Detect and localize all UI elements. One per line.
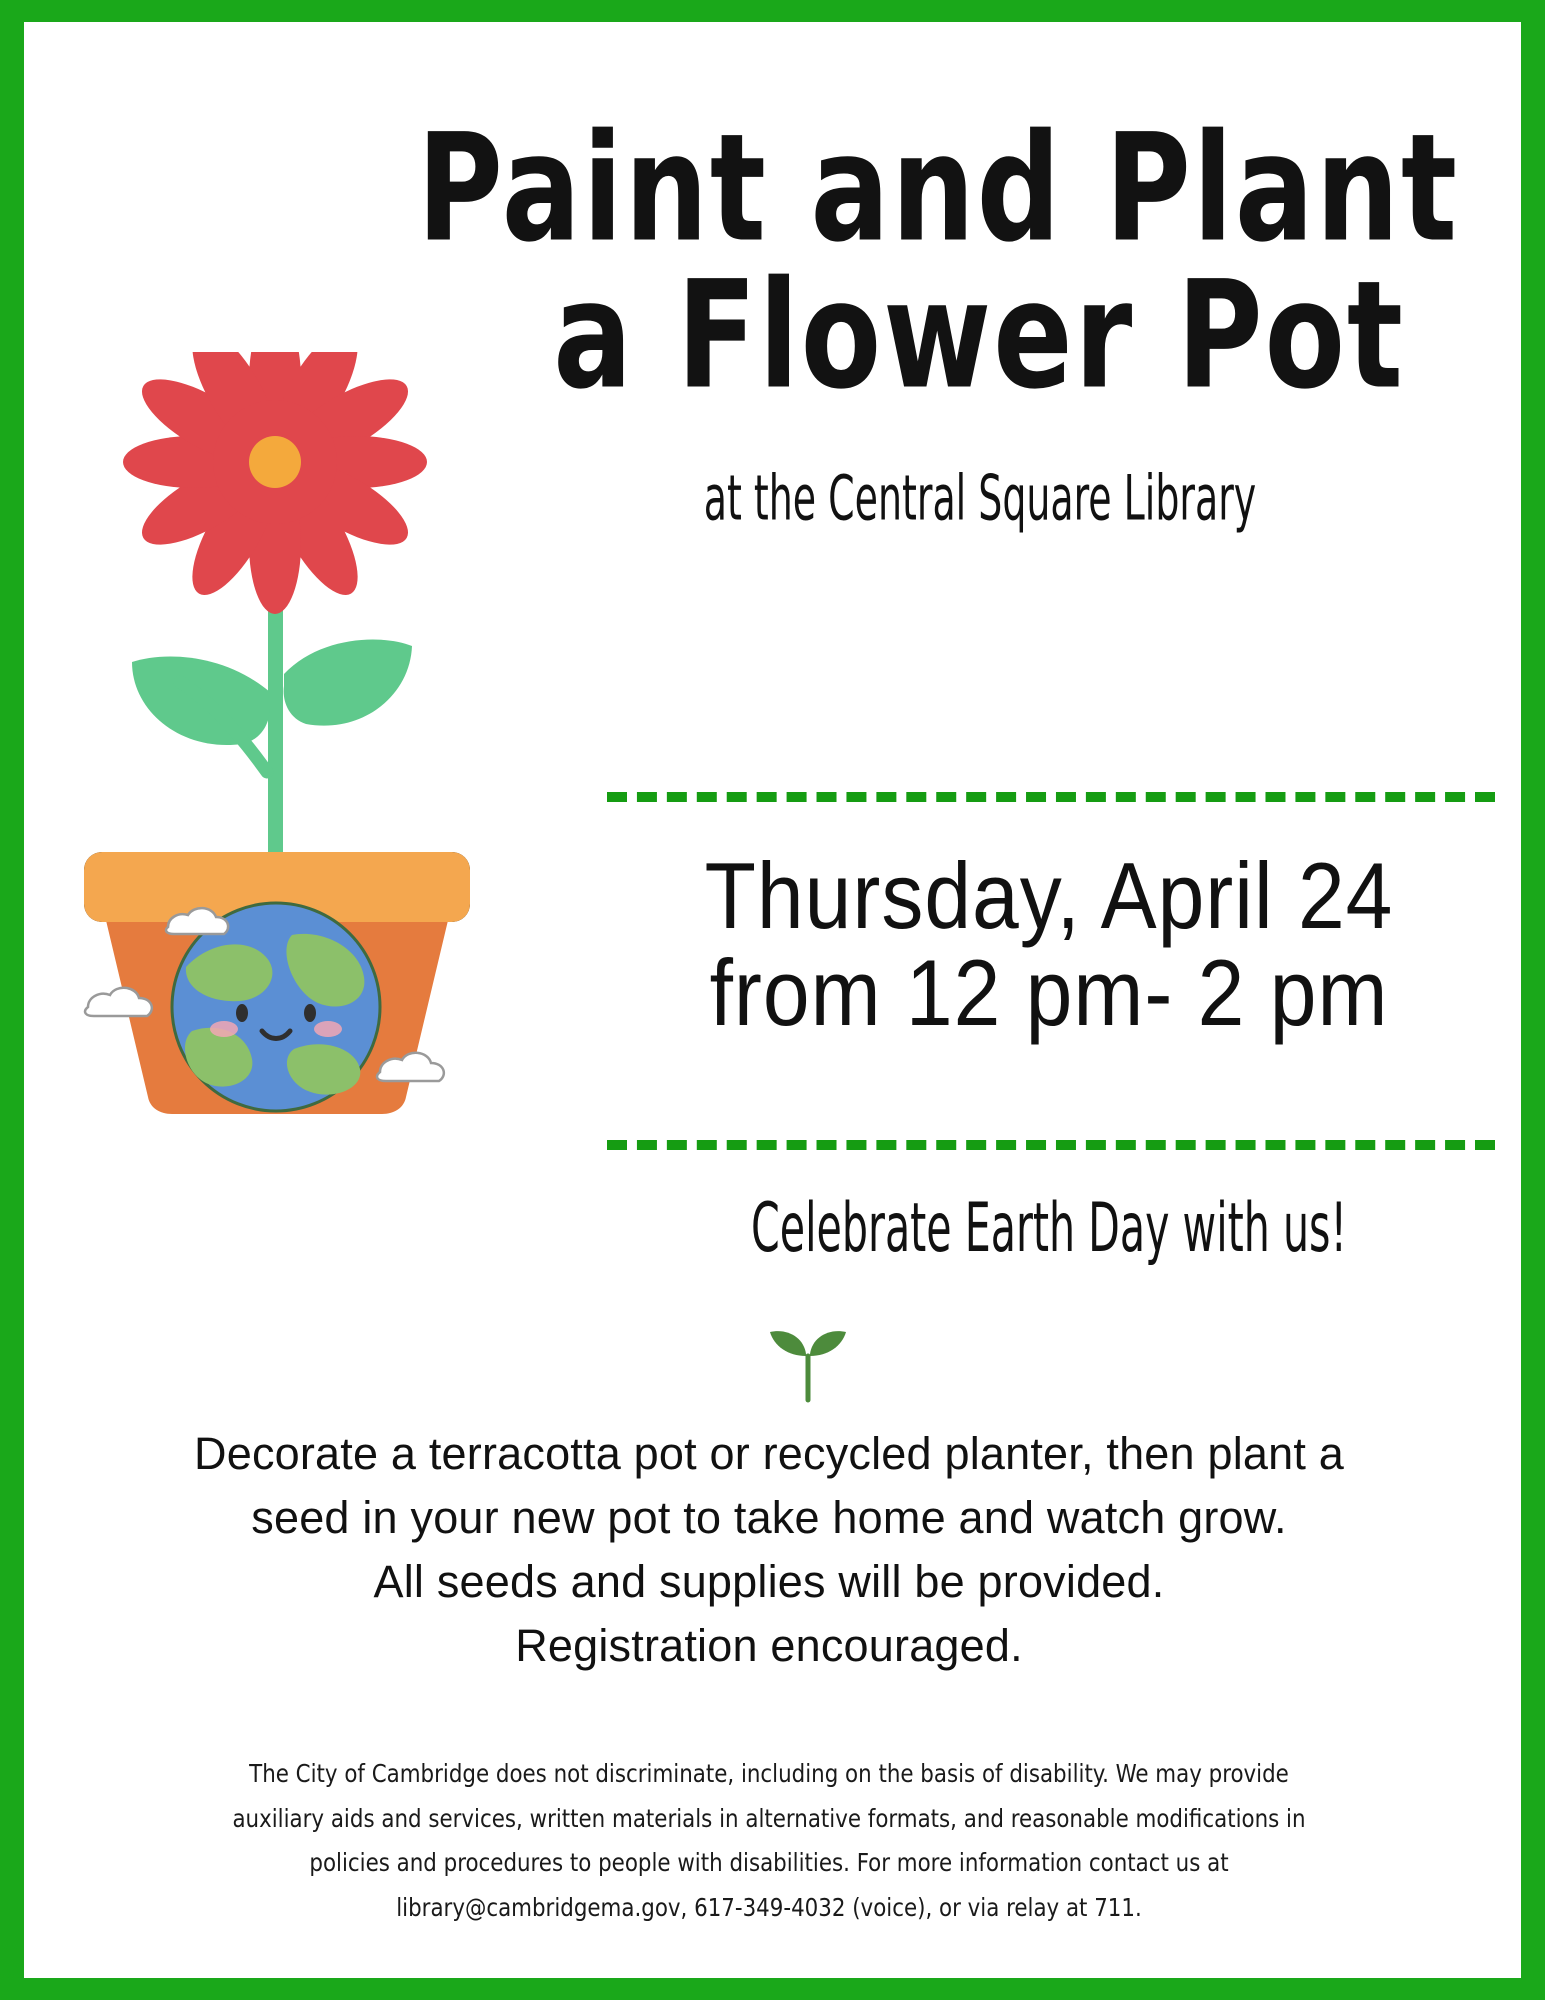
disclaimer-line-1: The City of Cambridge does not discrimin…: [152, 1752, 1387, 1797]
leaf-icon: [284, 639, 412, 725]
poster-canvas: Paint and Plant a Flower Pot at the Cent…: [24, 22, 1521, 1978]
page-subtitle: at the Central Square Library: [538, 462, 1422, 535]
headline-block: Paint and Plant a Flower Pot at the Cent…: [424, 118, 1494, 519]
disclaimer-line-4: library@cambridgema.gov, 617-349-4032 (v…: [152, 1886, 1387, 1931]
description-line-4: Registration encouraged.: [64, 1614, 1474, 1678]
page-title-line1: Paint and Plant: [417, 118, 1455, 261]
divider-top: [607, 792, 1495, 802]
page-title-line2: a Flower Pot: [500, 265, 1458, 408]
divider-bottom: [607, 1140, 1495, 1150]
disclaimer-line-3: policies and procedures to people with d…: [152, 1841, 1387, 1886]
description-line-2: seed in your new pot to take home and wa…: [64, 1486, 1474, 1550]
sprout-icon: [766, 1312, 850, 1404]
flower-icon: [123, 352, 427, 614]
event-datetime-block: Thursday, April 24 from 12 pm- 2 pm: [584, 842, 1514, 1037]
sprout-svg: [766, 1312, 850, 1404]
disclaimer-line-2: auxiliary aids and services, written mat…: [152, 1797, 1387, 1842]
description-line-1: Decorate a terracotta pot or recycled pl…: [64, 1422, 1474, 1486]
event-tagline: Celebrate Earth Day with us!: [640, 1190, 1458, 1268]
description-block: Decorate a terracotta pot or recycled pl…: [64, 1422, 1474, 1678]
event-time: from 12 pm- 2 pm: [584, 939, 1514, 1048]
poster-top-area: Paint and Plant a Flower Pot at the Cent…: [24, 22, 1521, 1102]
accessibility-disclaimer: The City of Cambridge does not discrimin…: [152, 1752, 1387, 1930]
event-date: Thursday, April 24: [584, 842, 1514, 951]
description-line-3: All seeds and supplies will be provided.: [64, 1550, 1474, 1614]
poster-root: Paint and Plant a Flower Pot at the Cent…: [0, 0, 1545, 2000]
